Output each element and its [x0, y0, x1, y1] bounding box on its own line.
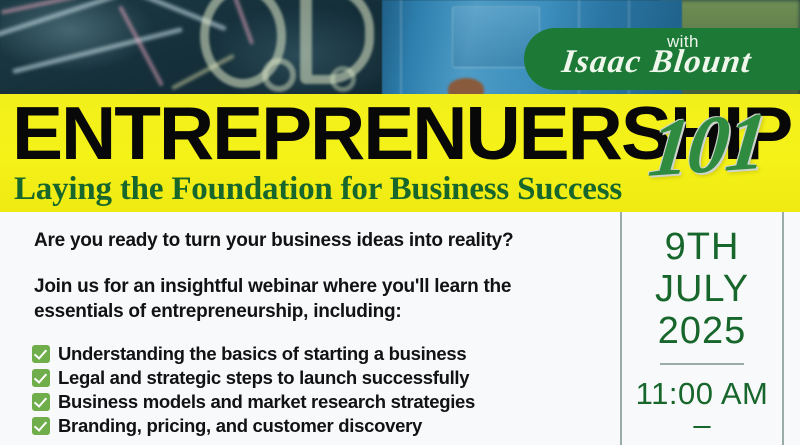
list-item-label: Branding, pricing, and customer discover…	[58, 415, 422, 437]
chalk-circle	[262, 58, 296, 92]
list-item-label: Legal and strategic steps to launch succ…	[58, 367, 469, 389]
event-year: 2025	[622, 310, 782, 352]
speaker-badge: with Isaac Blount	[524, 28, 800, 90]
vertical-divider-right	[782, 212, 784, 445]
webinar-flyer: with Isaac Blount ENTREPRENUERSHIP Layin…	[0, 0, 800, 445]
title-band: ENTREPRENUERSHIP Laying the Foundation f…	[0, 94, 800, 212]
event-time-separator: –	[622, 415, 782, 435]
list-item: Legal and strategic steps to launch succ…	[32, 366, 612, 389]
content-area: Are you ready to turn your business idea…	[0, 212, 800, 445]
check-icon	[32, 417, 50, 435]
list-item: Understanding the basics of starting a b…	[32, 342, 612, 365]
list-item-label: Understanding the basics of starting a b…	[58, 343, 466, 365]
speaker-name: Isaac Blount	[560, 44, 754, 81]
schedule-divider	[660, 363, 744, 365]
benefits-list: Understanding the basics of starting a b…	[32, 342, 612, 438]
check-icon	[32, 393, 50, 411]
event-month: JULY	[622, 268, 782, 310]
course-number: 101	[645, 98, 769, 192]
check-icon	[32, 345, 50, 363]
chalk-circle	[330, 66, 356, 92]
denim-seam	[400, 0, 402, 97]
hook-text: Are you ready to turn your business idea…	[34, 228, 594, 253]
list-item: Business models and market research stra…	[32, 390, 612, 413]
event-time: 11:00 AM	[622, 377, 782, 411]
page-subtitle: Laying the Foundation for Business Succe…	[14, 170, 622, 208]
check-icon	[32, 369, 50, 387]
event-day: 9TH	[622, 226, 782, 268]
schedule-panel: 9TH JULY 2025 11:00 AM –	[622, 212, 782, 445]
intro-text: Join us for an insightful webinar where …	[34, 274, 599, 324]
list-item-label: Business models and market research stra…	[58, 391, 475, 413]
list-item: Branding, pricing, and customer discover…	[32, 414, 612, 437]
